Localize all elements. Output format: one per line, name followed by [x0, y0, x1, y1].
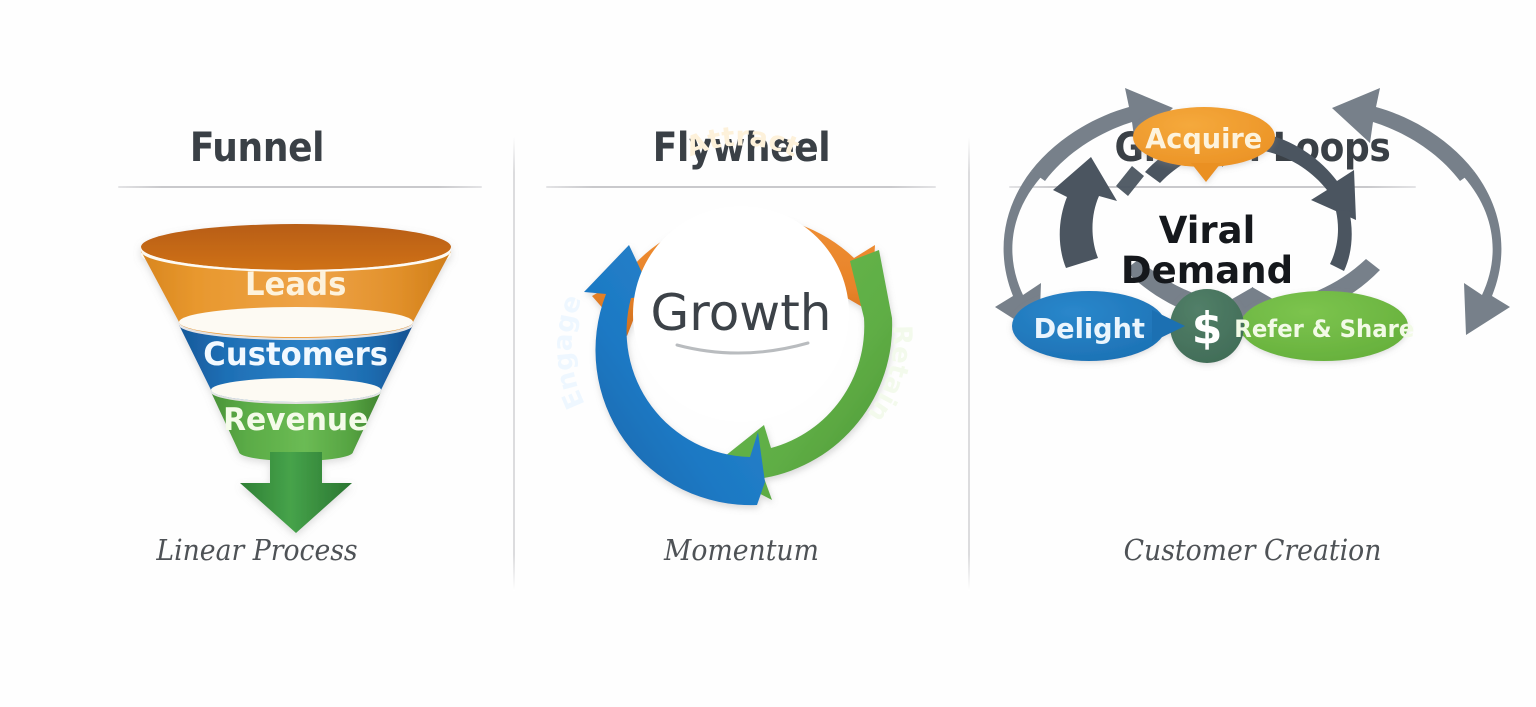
inner-dash-1	[1116, 166, 1144, 196]
growth-loops-graphic: Acquire Delight Refer & Share $ Viral De…	[969, 0, 1536, 707]
flywheel-hub-label: Growth	[651, 284, 832, 342]
panel-caption-loops: Customer Creation	[992, 533, 1514, 567]
flywheel-graphic: Growth Attract Retain Engage	[514, 0, 969, 707]
arrow-right-down	[1464, 171, 1510, 335]
diagram-canvas: Funnel	[0, 0, 1536, 707]
flywheel-label-attract: Attract	[682, 122, 803, 164]
inner-bracket-right	[1330, 210, 1352, 271]
center-label-line2: Demand	[1121, 249, 1293, 292]
funnel-rim-interior	[141, 224, 451, 270]
panel-caption-funnel: Linear Process	[21, 533, 494, 567]
panel-funnel: Funnel	[0, 0, 514, 707]
inner-arrow-right-down	[1261, 133, 1356, 220]
panel-flywheel: Flywheel	[514, 0, 969, 707]
acquire-pointer	[1191, 163, 1221, 182]
flywheel-label-engage: Engage	[548, 291, 591, 413]
node-label-refer-share: Refer & Share	[1234, 314, 1414, 343]
node-label-money: $	[1192, 303, 1223, 354]
node-label-delight: Delight	[1034, 312, 1145, 345]
panel-loops: Growth Loops	[969, 0, 1536, 707]
funnel-separator-2	[211, 378, 381, 402]
center-label-line1: Viral	[1159, 209, 1256, 252]
funnel-label-leads: Leads	[245, 266, 346, 303]
panel-caption-flywheel: Momentum	[532, 533, 951, 567]
node-label-acquire: Acquire	[1145, 122, 1262, 155]
arrow-right-up	[1332, 88, 1474, 181]
funnel-outflow-arrow	[240, 452, 352, 533]
funnel-label-customers: Customers	[203, 336, 388, 373]
inner-arrow-left-up	[1053, 157, 1117, 268]
funnel-graphic: Leads Customers Revenue	[0, 0, 514, 707]
funnel-separator-1	[179, 307, 413, 337]
funnel-label-revenue: Revenue	[223, 402, 368, 438]
